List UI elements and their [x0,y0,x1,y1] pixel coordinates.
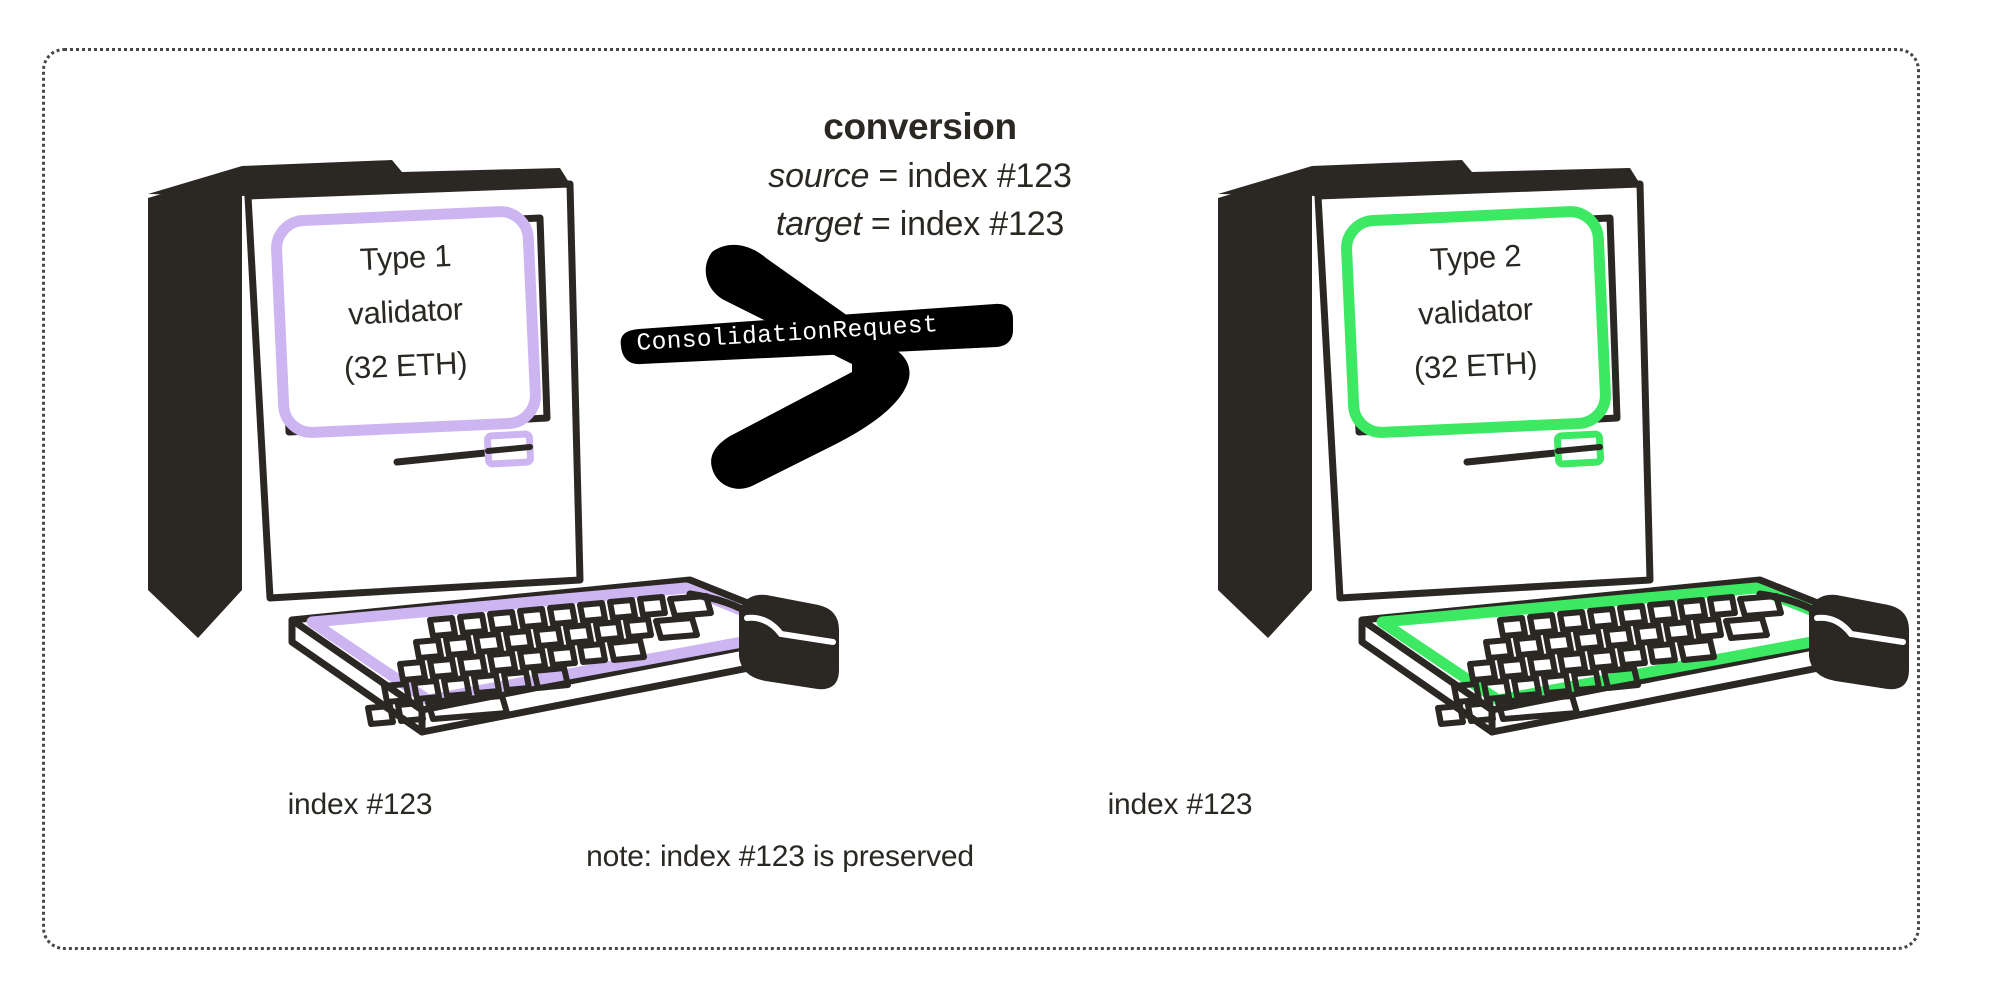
screen-line-2: validator [1418,291,1534,331]
caption-left-index: index #123 [180,788,540,822]
disk-slot-inner-line [1558,447,1600,451]
diagram-stage: conversion source = index #123 target = … [0,0,2000,1000]
consolidation-request-banner: ConsolidationRequest [615,300,1015,370]
param-value-source: index #123 [907,157,1071,195]
screen-line-2: validator [348,291,464,331]
screen-line-3: (32 ETH) [343,345,468,386]
note-caption: note: index #123 is preserved [460,840,1100,874]
disk-slot-inner-line [488,447,530,451]
screen-line-1: Type 1 [359,238,452,277]
case-side-panel [148,170,242,638]
mouse [1812,598,1906,686]
mouse [742,598,836,686]
case-side-panel [1218,170,1312,638]
conversion-title: conversion [640,108,1200,145]
param-eq-source: = [869,157,907,195]
screen-line-1: Type 2 [1429,238,1522,277]
computer-illustration-right: Type 2 validator (32 ETH) [1218,160,1906,732]
caption-right-index: index #123 [1000,788,1360,822]
type-2-validator-computer: Type 2 validator (32 ETH) [1200,150,1920,790]
screen-line-3: (32 ETH) [1413,345,1538,386]
